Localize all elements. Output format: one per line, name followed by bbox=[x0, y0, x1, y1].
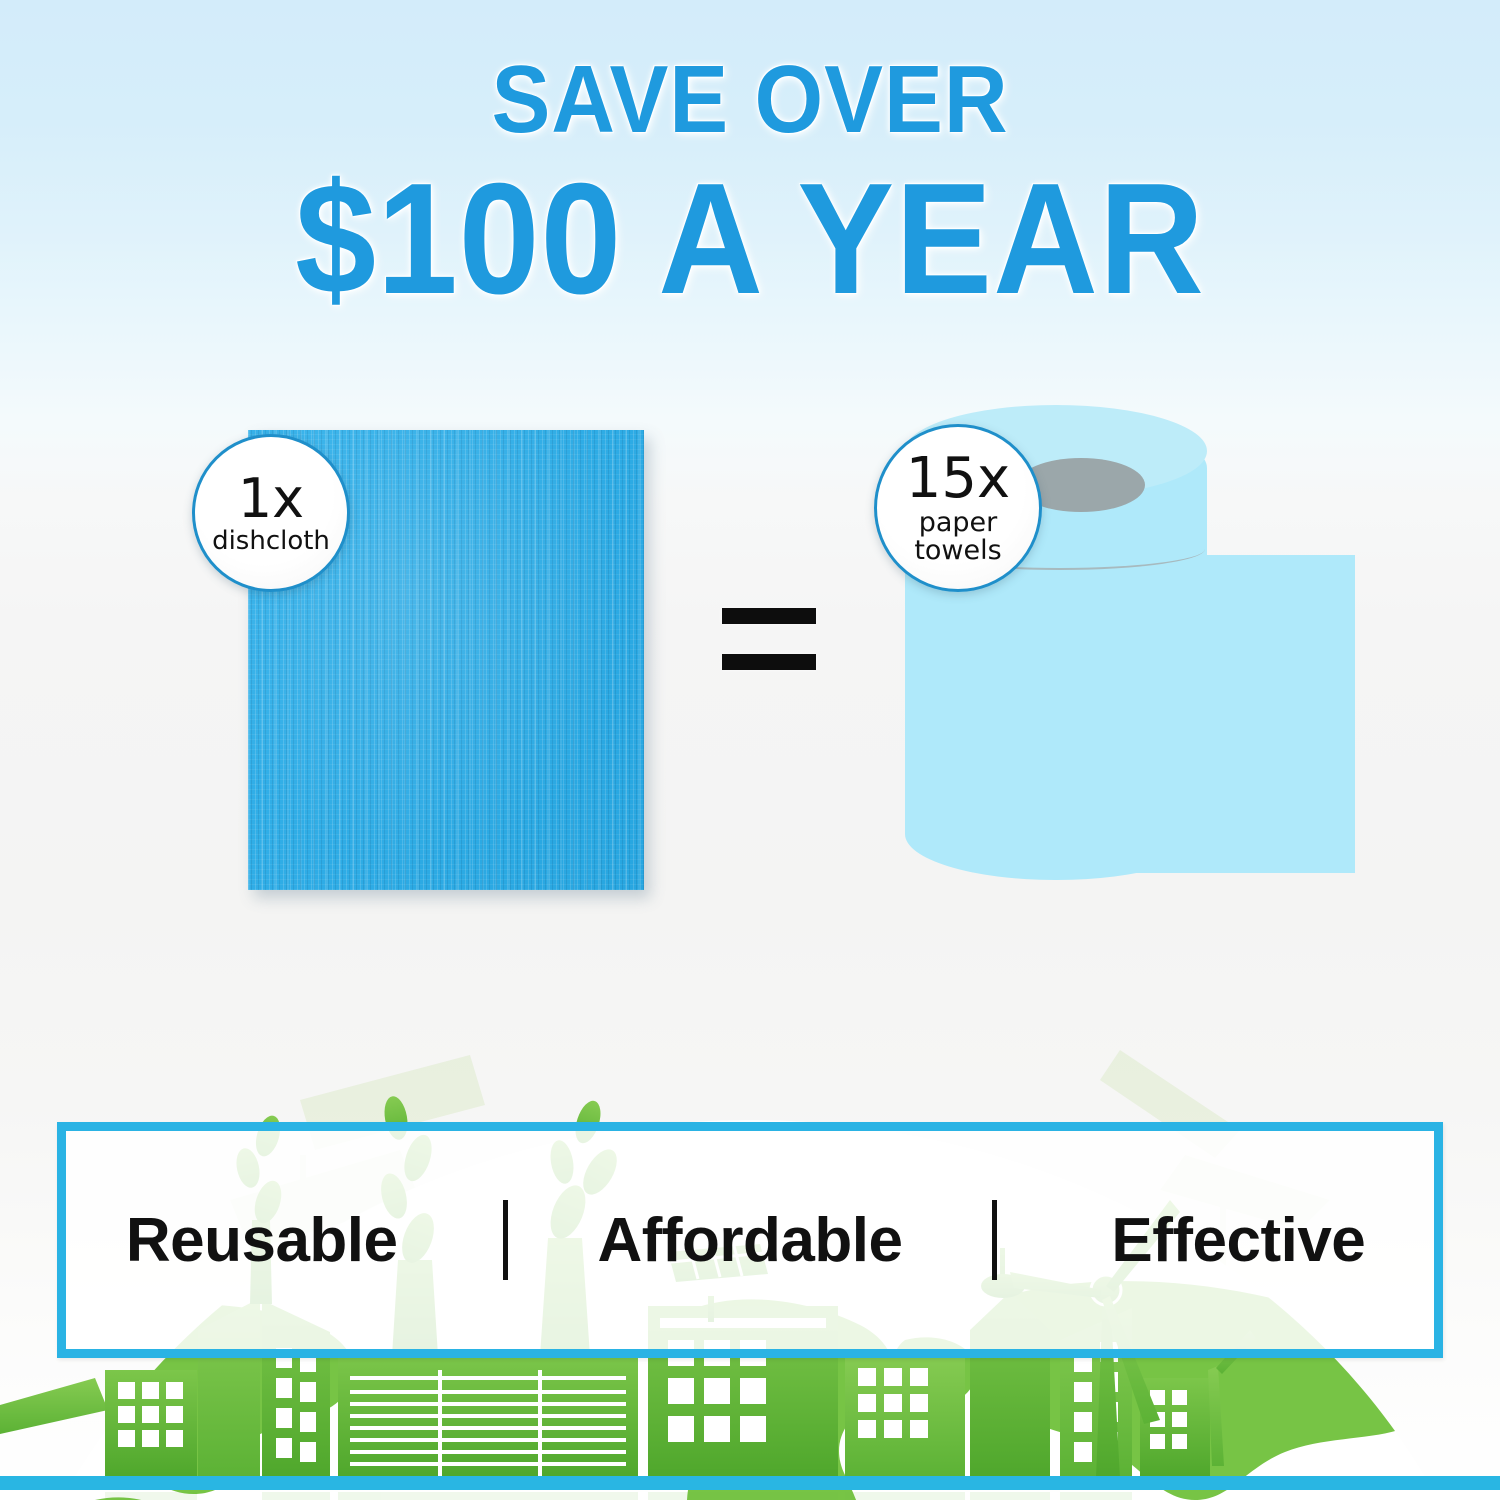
promo-infographic: SAVE OVER $100 A YEAR 1x dishcloth 15x p… bbox=[0, 0, 1500, 1500]
feature-slot-effective: Effective bbox=[1043, 1205, 1434, 1276]
equals-bar-bottom bbox=[722, 654, 816, 670]
badge-dishcloth-count: 1x bbox=[238, 472, 304, 526]
badge-dishcloth-label: dishcloth bbox=[212, 528, 330, 555]
equals-icon bbox=[722, 608, 816, 670]
feature-divider-1 bbox=[503, 1200, 508, 1280]
headline-line-1: SAVE OVER bbox=[60, 52, 1440, 148]
badge-paper-label-line2: towels bbox=[914, 537, 1001, 565]
feature-list: Reusable Affordable Effective bbox=[66, 1200, 1434, 1280]
feature-label-reusable: Reusable bbox=[126, 1205, 398, 1276]
feature-label-affordable: Affordable bbox=[597, 1205, 902, 1276]
equals-bar-top bbox=[722, 608, 816, 624]
feature-bar: Reusable Affordable Effective bbox=[57, 1122, 1443, 1358]
badge-paper-count: 15x bbox=[906, 451, 1010, 507]
feature-slot-reusable: Reusable bbox=[66, 1205, 457, 1276]
headline-line-2: $100 A YEAR bbox=[60, 160, 1440, 318]
feature-divider-2 bbox=[992, 1200, 997, 1280]
feature-slot-affordable: Affordable bbox=[554, 1205, 945, 1276]
badge-dishcloth: 1x dishcloth bbox=[192, 434, 350, 592]
badge-paper-label-line1: paper bbox=[919, 509, 998, 537]
page-title: SAVE OVER $100 A YEAR bbox=[0, 52, 1500, 318]
feature-label-effective: Effective bbox=[1111, 1205, 1365, 1276]
horizon-accent-line bbox=[0, 1476, 1500, 1490]
badge-paper-towels: 15x paper towels bbox=[874, 424, 1042, 592]
